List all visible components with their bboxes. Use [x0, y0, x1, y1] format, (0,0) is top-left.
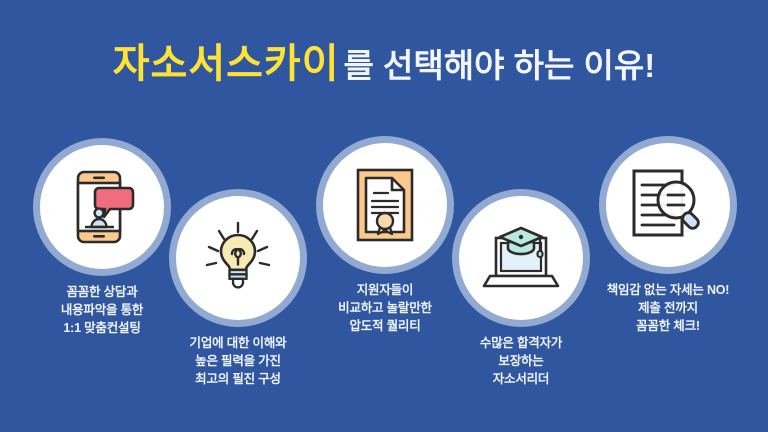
feature-icon-circle: [323, 143, 447, 267]
certificate-award-icon: [355, 167, 415, 243]
feature-icon-circle: [176, 196, 300, 320]
title-tagline: 를 선택해야 하는 이유!: [344, 47, 656, 84]
feature-caption: 기업에 대한 이해와 높은 필력을 가진 최고의 필진 구성: [148, 334, 328, 388]
feature-icon-circle: [459, 196, 583, 320]
caption-line: 제출 전까지: [578, 299, 758, 317]
caption-line: 수많은 합격자가: [431, 334, 611, 352]
caption-line: 기업에 대한 이해와: [148, 334, 328, 352]
feature-icon-circle: [40, 145, 164, 269]
caption-line: 최고의 필진 구성: [148, 370, 328, 388]
brand-name: 자소서스카이: [113, 42, 340, 86]
laptop-graduation-cap-icon: [480, 222, 562, 294]
feature-caption: 책임감 없는 자세는 NO! 제출 전까지 꼼꼼한 체크!: [578, 281, 758, 335]
page-title: 자소서스카이를 선택해야 하는 이유!: [0, 44, 768, 84]
feature-caption: 수많은 합격자가 보장하는 자소서리더: [431, 334, 611, 388]
document-magnifier-icon: [628, 167, 708, 243]
lightbulb-icon: [201, 221, 275, 295]
smartphone-chat-icon: [69, 169, 135, 245]
feature-item-check: 책임감 없는 자세는 NO! 제출 전까지 꼼꼼한 체크!: [578, 143, 758, 335]
caption-line: 책임감 없는 자세는 NO!: [578, 281, 758, 299]
caption-line: 자소서리더: [431, 370, 611, 388]
caption-line: 꼼꼼한 체크!: [578, 317, 758, 335]
marketing-slide: 자소서스카이를 선택해야 하는 이유! 꼼꼼한 상담과 내용파악을 통한: [0, 0, 768, 432]
caption-line: 보장하는: [431, 352, 611, 370]
feature-icon-circle: [606, 143, 730, 267]
caption-line: 높은 필력을 가진: [148, 352, 328, 370]
